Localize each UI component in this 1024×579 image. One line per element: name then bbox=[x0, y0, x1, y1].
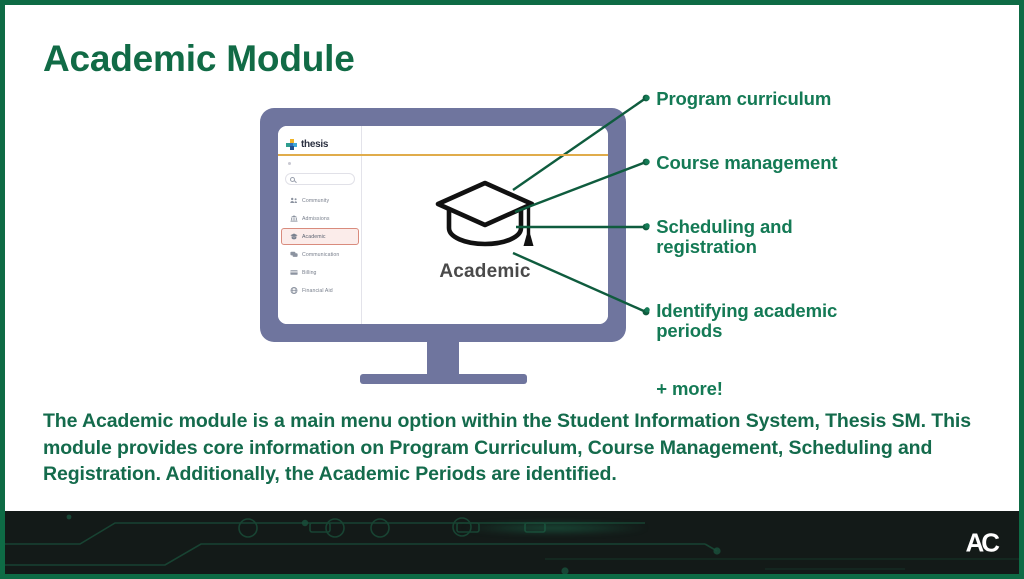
callout-label: + more! bbox=[656, 379, 723, 399]
bullet-dot-icon: • bbox=[644, 153, 650, 173]
people-icon bbox=[290, 197, 298, 204]
page-title: Academic Module bbox=[43, 38, 355, 80]
sidebar-item-community[interactable]: Community bbox=[281, 192, 359, 209]
sidebar-item-label: Communication bbox=[302, 252, 339, 258]
bullet-dot-icon: • bbox=[644, 301, 650, 340]
academic-graphic: Academic bbox=[431, 178, 539, 283]
sidebar-item-communication[interactable]: Communication bbox=[281, 246, 359, 263]
header-rule bbox=[278, 154, 608, 156]
sidebar-item-academic[interactable]: Academic bbox=[281, 228, 359, 245]
credit-card-icon bbox=[290, 269, 298, 276]
graduation-cap-icon bbox=[431, 239, 539, 256]
body-paragraph: The Academic module is a main menu optio… bbox=[43, 408, 973, 488]
thesis-plus-logo-icon bbox=[286, 139, 297, 150]
sidebar-item-label: Billing bbox=[302, 270, 317, 276]
bullet-dot-icon: • bbox=[644, 217, 650, 256]
ac-logo: AC bbox=[965, 527, 997, 558]
brand-name: thesis bbox=[301, 139, 328, 150]
callout-item: • Identifying academic periods bbox=[654, 301, 864, 340]
brand: thesis bbox=[278, 126, 361, 154]
monitor-neck bbox=[427, 342, 459, 376]
sidebar-item-label: Academic bbox=[302, 234, 326, 240]
app-main: Academic bbox=[362, 126, 608, 324]
callout-item-more: • + more! bbox=[654, 379, 723, 399]
callout-label: Identifying academic periods bbox=[656, 301, 864, 340]
slide: Academic Module thesis bbox=[0, 0, 1024, 579]
bank-icon bbox=[290, 215, 298, 222]
sidebar-item-financial-aid[interactable]: Financial Aid bbox=[281, 282, 359, 299]
sidebar-nav: Community Admissions bbox=[278, 192, 362, 300]
bullet-dot-icon: • bbox=[644, 89, 650, 109]
banner-glow bbox=[460, 521, 650, 535]
monitor-bezel: thesis Community bbox=[260, 108, 626, 342]
callout-item: • Program curriculum bbox=[654, 89, 831, 109]
chat-icon bbox=[290, 251, 298, 258]
monitor-mockup: thesis Community bbox=[260, 108, 626, 393]
sidebar-item-admissions[interactable]: Admissions bbox=[281, 210, 359, 227]
globe-icon bbox=[290, 287, 298, 294]
sidebar-dot-icon bbox=[288, 162, 291, 165]
app-sidebar: thesis Community bbox=[278, 126, 362, 324]
sidebar-item-label: Community bbox=[302, 198, 329, 204]
monitor-screen: thesis Community bbox=[278, 126, 608, 324]
graduation-cap-icon bbox=[290, 233, 298, 240]
footer-banner: AC bbox=[5, 511, 1019, 574]
monitor-base bbox=[360, 374, 527, 384]
thesis-app: thesis Community bbox=[278, 126, 608, 324]
callout-label: Course management bbox=[656, 153, 837, 173]
search-input[interactable] bbox=[285, 173, 355, 185]
callout-item: • Scheduling and registration bbox=[654, 217, 864, 256]
sidebar-item-label: Admissions bbox=[302, 216, 330, 222]
callout-label: Program curriculum bbox=[656, 89, 831, 109]
search-icon bbox=[290, 177, 295, 182]
sidebar-item-billing[interactable]: Billing bbox=[281, 264, 359, 281]
callout-item: • Course management bbox=[654, 153, 838, 173]
academic-graphic-label: Academic bbox=[431, 261, 539, 283]
callout-label: Scheduling and registration bbox=[656, 217, 864, 256]
sidebar-item-label: Financial Aid bbox=[302, 288, 333, 294]
